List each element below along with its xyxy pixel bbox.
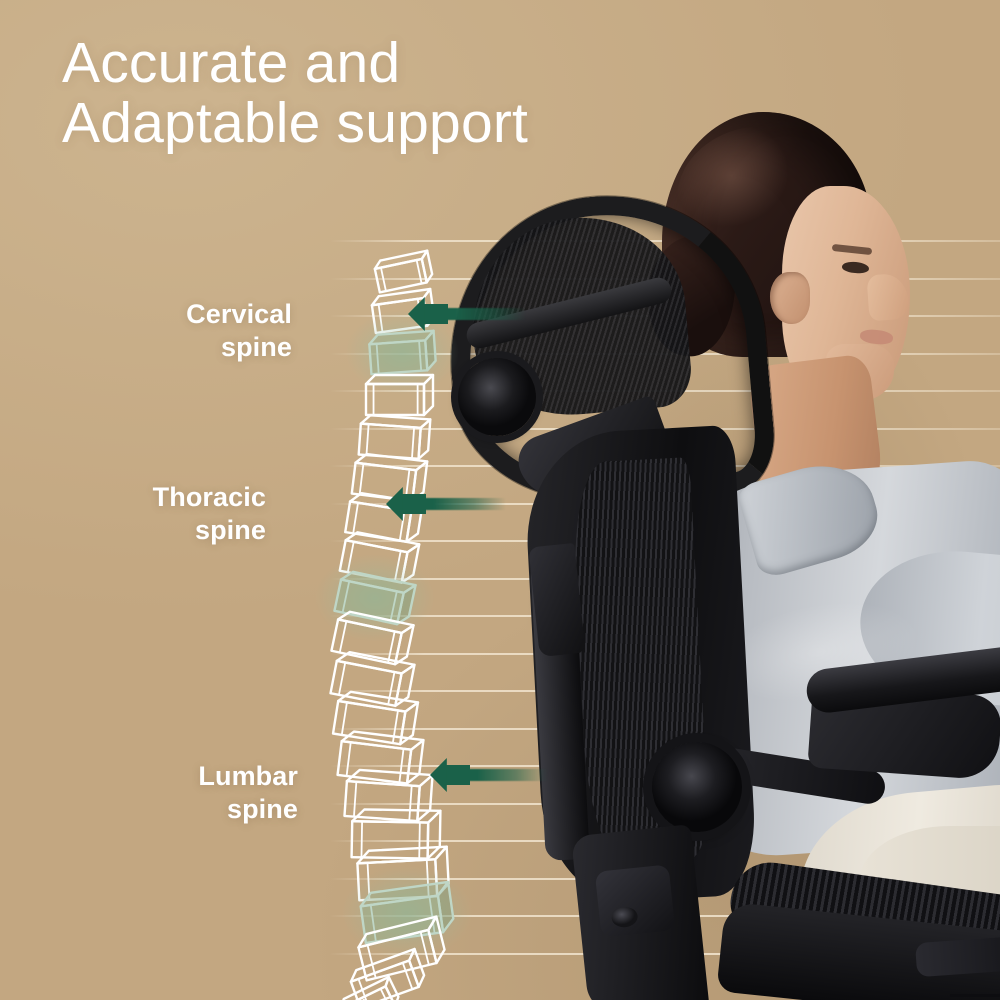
label-lumbar-spine: Lumbar spine — [186, 760, 298, 826]
arrow-tail — [466, 769, 548, 781]
arrow-lumbar — [430, 758, 548, 792]
arrow-tail — [444, 308, 526, 320]
page-title: Accurate and Adaptable support — [62, 34, 528, 154]
arrow-thoracic — [386, 487, 506, 521]
arrow-head-body — [422, 304, 448, 324]
arrow-head-body — [444, 765, 470, 785]
arrow-tail — [422, 498, 506, 510]
arrow-head-body — [400, 494, 426, 514]
label-thoracic-spine: Thoracic spine — [136, 481, 266, 547]
arrow-cervical — [408, 297, 526, 331]
promo-banner: Cervical spine Thoracic spine Lumbar spi… — [0, 0, 1000, 1000]
label-cervical-spine: Cervical spine — [168, 298, 292, 364]
